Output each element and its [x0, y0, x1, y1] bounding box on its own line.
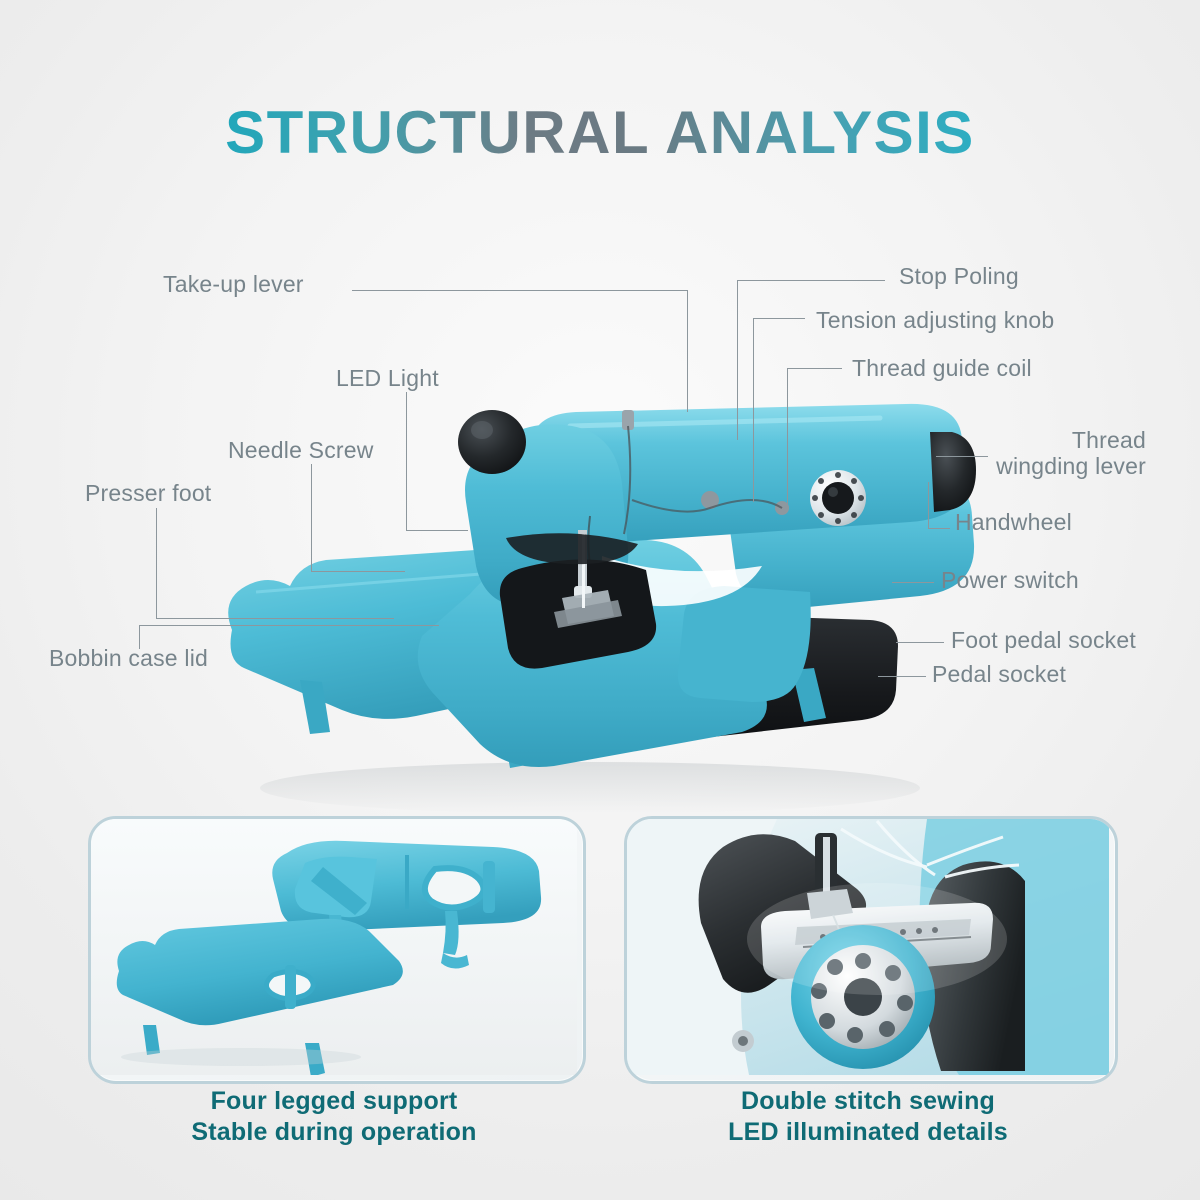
- infographic-root: STRUCTURAL ANALYSIS: [0, 0, 1200, 1200]
- callout-bobbin-case-lid: Bobbin case lid: [49, 646, 208, 672]
- feature-caption-left: Four legged support Stable during operat…: [88, 1086, 580, 1147]
- leader-thread-guide-v: [787, 368, 788, 504]
- leader-needle-screw-v: [311, 464, 312, 571]
- callout-presser-foot: Presser foot: [85, 481, 211, 507]
- leader-needle-screw-h: [311, 571, 405, 572]
- caption-left-line2: Stable during operation: [191, 1118, 476, 1146]
- callout-thread-winding-lever: Thread wingding lever: [940, 428, 1146, 480]
- leader-presser-foot-v: [156, 508, 157, 618]
- page-title: STRUCTURAL ANALYSIS: [0, 98, 1200, 167]
- callout-thread-guide-coil: Thread guide coil: [852, 356, 1032, 382]
- callout-led-light: LED Light: [336, 366, 439, 392]
- four-legged-support-photo: [91, 819, 577, 1075]
- leader-led-light-h: [406, 530, 468, 531]
- leader-stop-poling-v: [737, 280, 738, 440]
- leader-presser-foot-h: [156, 618, 394, 619]
- leader-led-light-v: [406, 392, 407, 530]
- leader-handwheel-h: [928, 528, 950, 529]
- pillar-base: [678, 586, 811, 702]
- leader-power-switch-h: [892, 582, 934, 583]
- feature-caption-right: Double stitch sewing LED illuminated det…: [624, 1086, 1112, 1147]
- feature-panel-four-legged-support: [88, 816, 586, 1084]
- feature-panel-double-stitch-led: [624, 816, 1118, 1084]
- leader-pedal-socket-h: [878, 676, 926, 677]
- leader-thread-winding-h: [936, 456, 988, 457]
- callout-tension-adjusting-knob: Tension adjusting knob: [816, 308, 1054, 334]
- callout-stop-poling: Stop Poling: [899, 264, 1019, 290]
- callout-thread-winding-lever-line1: Thread: [1072, 427, 1146, 453]
- callout-needle-screw: Needle Screw: [228, 438, 374, 464]
- callout-take-up-lever: Take-up lever: [163, 272, 304, 298]
- leader-tension-knob-v: [753, 318, 754, 502]
- leader-take-up-lever-v: [687, 290, 688, 412]
- callout-thread-winding-lever-line2: wingding lever: [996, 453, 1146, 479]
- leader-take-up-lever-h: [352, 290, 688, 291]
- callout-power-switch: Power switch: [941, 568, 1079, 594]
- leader-tension-knob-h: [753, 318, 805, 319]
- caption-left-line1: Four legged support: [211, 1087, 458, 1115]
- leader-stop-poling-h: [737, 280, 885, 281]
- callout-pedal-socket: Pedal socket: [932, 662, 1066, 688]
- leader-thread-guide-h: [787, 368, 842, 369]
- leader-bobbin-case-h: [139, 625, 439, 626]
- leader-foot-pedal-h: [896, 642, 944, 643]
- leader-bobbin-case-v: [139, 625, 140, 649]
- spool-pin-knob: [458, 410, 526, 474]
- callout-handwheel: Handwheel: [955, 510, 1072, 536]
- leader-handwheel-v: [928, 482, 929, 528]
- callout-foot-pedal-socket: Foot pedal socket: [951, 628, 1136, 654]
- caption-right-line1: Double stitch sewing: [741, 1087, 995, 1115]
- caption-right-line2: LED illuminated details: [728, 1118, 1008, 1146]
- double-stitch-led-photo: [627, 819, 1109, 1075]
